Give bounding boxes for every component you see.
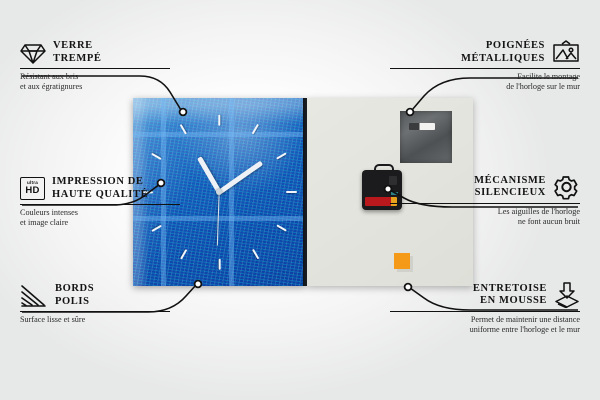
hanger-slot <box>409 123 435 130</box>
desc-line-2: uniforme entre l'horloge et le mur <box>390 325 580 335</box>
polished-edge-lines-icon <box>20 284 48 308</box>
foam-spacer-arrow-icon <box>554 282 580 308</box>
feature-bords-polis: BORDS POLIS Surface lisse et sûre <box>20 283 170 325</box>
feature-description: Permet de maintenir une distance uniform… <box>390 315 580 335</box>
divider <box>390 68 580 69</box>
feature-description: Les aiguilles de l'horloge ne font aucun… <box>390 207 580 227</box>
desc-line-2: de l'horloge sur le mur <box>390 82 580 92</box>
feature-impression-haute-qualite: ultra HD IMPRESSION DE HAUTE QUALITÉ Cou… <box>20 176 180 228</box>
title-line-1: VERRE <box>53 40 102 53</box>
feature-header: BORDS POLIS <box>20 283 170 308</box>
feature-mecanisme-silencieux: MÉCANISME SILENCIEUX Les aiguilles de l'… <box>390 174 580 227</box>
mechanism-lug <box>374 164 394 174</box>
feature-title: IMPRESSION DE HAUTE QUALITÉ <box>52 176 148 201</box>
feature-header: ENTRETOISE EN MOUSSE <box>390 282 580 308</box>
desc-line-1: Couleurs intenses <box>20 208 180 218</box>
feature-title: MÉCANISME SILENCIEUX <box>474 175 546 200</box>
desc-line-2: et aux égratignures <box>20 82 170 92</box>
divider <box>390 311 580 312</box>
gear-icon <box>553 174 580 200</box>
feature-verre-trempe: VERRE TREMPÉ Résistant aux bris et aux é… <box>20 40 170 92</box>
feature-header: MÉCANISME SILENCIEUX <box>390 174 580 200</box>
hands-center-cap <box>216 189 222 195</box>
title-line-1: IMPRESSION DE <box>52 176 148 189</box>
title-line-2: TREMPÉ <box>53 53 102 66</box>
desc-line-2: et image claire <box>20 218 180 228</box>
feature-description: Couleurs intenses et image claire <box>20 208 180 228</box>
desc-line-1: Résistant aux bris <box>20 72 170 82</box>
desc-line-1: Les aiguilles de l'horloge <box>390 207 580 217</box>
ultra-hd-bottom-text: HD <box>25 186 39 196</box>
desc-line-1: Surface lisse et sûre <box>20 315 170 325</box>
feature-title: POIGNÉES MÉTALLIQUES <box>461 40 545 65</box>
tick-mark <box>218 114 220 125</box>
feature-title: BORDS POLIS <box>55 283 94 308</box>
pattern-line-v2 <box>229 98 234 286</box>
title-line-1: ENTRETOISE <box>473 283 547 296</box>
feature-header: VERRE TREMPÉ <box>20 40 170 65</box>
feature-title: VERRE TREMPÉ <box>53 40 102 65</box>
feature-poignees-metalliques: POIGNÉES MÉTALLIQUES Facilite le montage… <box>390 40 580 92</box>
title-line-2: EN MOUSSE <box>473 295 547 308</box>
feature-header: ultra HD IMPRESSION DE HAUTE QUALITÉ <box>20 176 180 201</box>
tick-mark <box>218 258 220 269</box>
title-line-2: HAUTE QUALITÉ <box>52 189 148 202</box>
title-line-1: BORDS <box>55 283 94 296</box>
metal-hanger-plate <box>400 111 452 163</box>
feature-entretoise-en-mousse: ENTRETOISE EN MOUSSE Permet de maintenir… <box>390 282 580 335</box>
diamond-icon <box>20 41 46 65</box>
desc-line-2: ne font aucun bruit <box>390 217 580 227</box>
title-line-1: MÉCANISME <box>474 175 546 188</box>
title-line-2: POLIS <box>55 296 94 309</box>
pattern-line-h1 <box>133 132 305 137</box>
title-line-1: POIGNÉES <box>461 40 545 53</box>
feature-description: Facilite le montage de l'horloge sur le … <box>390 72 580 92</box>
feature-title: ENTRETOISE EN MOUSSE <box>473 283 547 308</box>
divider <box>390 203 580 204</box>
divider <box>20 204 180 205</box>
ultra-hd-icon: ultra HD <box>20 177 45 200</box>
infographic-canvas: VERRE TREMPÉ Résistant aux bris et aux é… <box>0 0 600 400</box>
picture-frame-hanger-icon <box>552 40 580 65</box>
desc-line-1: Facilite le montage <box>390 72 580 82</box>
feature-header: POIGNÉES MÉTALLIQUES <box>390 40 580 65</box>
foam-spacer <box>394 253 410 269</box>
title-line-2: MÉTALLIQUES <box>461 53 545 66</box>
divider <box>20 311 170 312</box>
feature-description: Résistant aux bris et aux égratignures <box>20 72 170 92</box>
divider <box>20 68 170 69</box>
desc-line-1: Permet de maintenir une distance <box>390 315 580 325</box>
feature-description: Surface lisse et sûre <box>20 315 170 325</box>
title-line-2: SILENCIEUX <box>474 187 546 200</box>
